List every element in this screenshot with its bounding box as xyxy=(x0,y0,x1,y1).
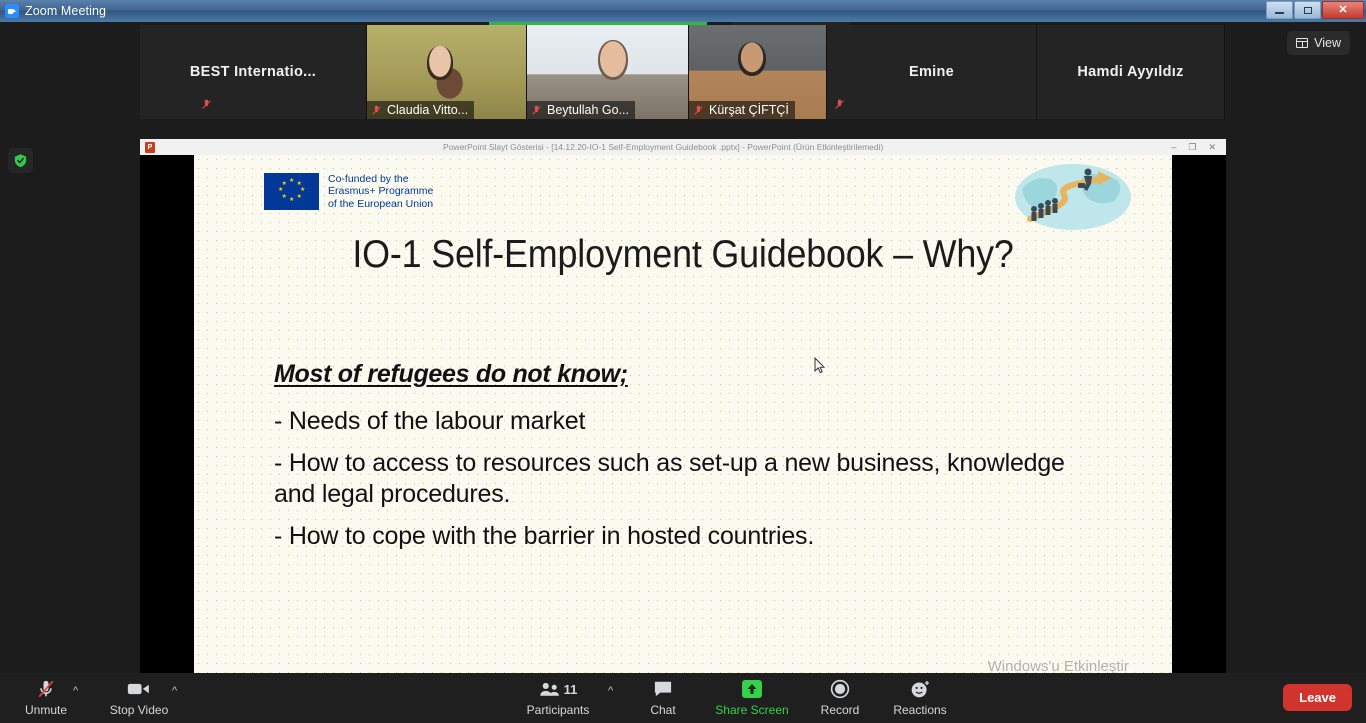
participant-tile[interactable]: BEST Internatio... xyxy=(140,25,367,119)
stop-video-label: Stop Video xyxy=(110,703,169,717)
shield-check-icon xyxy=(13,153,28,168)
ppt-close-button[interactable]: ✕ xyxy=(1208,142,1216,153)
slide-body-heading: Most of refugees do not know; xyxy=(274,360,1084,389)
window-controls: ✕ xyxy=(1266,1,1364,19)
window-titlebar: Zoom Meeting ✕ xyxy=(0,0,1366,22)
slide-body: Most of refugees do not know; - Needs of… xyxy=(274,360,1084,563)
slide-letterbox: ★ ★ ★ ★ ★ ★ ★ ★ Co-funded by the Erasmus… xyxy=(140,155,1226,695)
video-options-caret[interactable]: ^ xyxy=(172,685,177,697)
eu-text-line-2: Erasmus+ Programme xyxy=(328,185,433,197)
microphone-muted-icon xyxy=(35,678,57,700)
participant-tile[interactable]: Beytullah Go... xyxy=(527,25,689,119)
mute-icon xyxy=(530,104,543,117)
powerpoint-title: PowerPoint Slayt Gösterisi - [14.12.20-I… xyxy=(155,142,1171,152)
slide-title: IO-1 Self-Employment Guidebook – Why? xyxy=(233,233,1133,277)
restore-button[interactable] xyxy=(1294,1,1321,19)
eu-flag-icon: ★ ★ ★ ★ ★ ★ ★ ★ xyxy=(264,173,319,210)
participant-name-badge: Beytullah Go... xyxy=(527,101,635,119)
ppt-restore-button[interactable]: ❐ xyxy=(1188,142,1196,153)
slide-bullet: - How to access to resources such as set… xyxy=(274,448,1084,510)
mute-button[interactable]: Unmute xyxy=(6,678,86,717)
mute-icon xyxy=(833,98,846,116)
participant-tile[interactable]: Claudia Vitto... xyxy=(367,25,527,119)
slide-bullet: - Needs of the labour market xyxy=(274,406,1084,437)
participant-name: Beytullah Go... xyxy=(547,103,629,117)
eu-text-line-3: of the European Union xyxy=(328,198,433,210)
participant-name: Claudia Vitto... xyxy=(387,103,468,117)
participant-name: BEST Internatio... xyxy=(190,64,316,80)
chat-bubble-icon xyxy=(653,678,673,700)
globe-people-arrow-graphic xyxy=(1012,161,1134,233)
participant-tile[interactable]: Hamdi Ayyıldız xyxy=(1037,25,1225,119)
erasmus-eu-logo: ★ ★ ★ ★ ★ ★ ★ ★ Co-funded by the Erasmus… xyxy=(264,173,433,210)
leave-meeting-button[interactable]: Leave xyxy=(1283,684,1352,711)
grid-icon xyxy=(1296,38,1308,48)
share-screen-label: Share Screen xyxy=(715,703,788,717)
chat-label: Chat xyxy=(650,703,675,717)
close-icon: ✕ xyxy=(1338,5,1347,16)
powerpoint-window-controls: – ❐ ✕ xyxy=(1171,142,1216,153)
shared-screen-region: P PowerPoint Slayt Gösterisi - [14.12.20… xyxy=(140,139,1226,695)
view-button-label: View xyxy=(1314,36,1341,50)
record-label: Record xyxy=(821,703,860,717)
record-circle-icon xyxy=(830,678,850,700)
minimize-button[interactable] xyxy=(1266,1,1293,19)
encryption-shield-icon[interactable] xyxy=(8,148,33,173)
participant-name: Emine xyxy=(909,64,954,80)
slide-bullet: - How to cope with the barrier in hosted… xyxy=(274,521,1084,552)
share-arrow-up-icon xyxy=(741,678,763,700)
participant-filmstrip: ‹ BEST Internatio... Claudia Vitto... Be… xyxy=(140,25,1226,119)
powerpoint-slide: ★ ★ ★ ★ ★ ★ ★ ★ Co-funded by the Erasmus… xyxy=(194,155,1172,695)
participants-label: Participants xyxy=(527,703,590,717)
view-layout-button[interactable]: View xyxy=(1287,31,1350,55)
smiley-plus-icon xyxy=(910,678,931,700)
audio-options-caret[interactable]: ^ xyxy=(73,685,78,697)
participants-button[interactable]: 11 Participants xyxy=(518,678,598,717)
reactions-label: Reactions xyxy=(893,703,946,717)
ppt-minimize-button[interactable]: – xyxy=(1171,142,1176,153)
participants-count: 11 xyxy=(564,682,578,697)
meeting-toolbar: Unmute ^ Stop Video ^ 11 xyxy=(0,673,1366,723)
people-icon: 11 xyxy=(539,678,578,700)
mute-icon xyxy=(370,104,383,117)
leave-button-label: Leave xyxy=(1299,690,1336,705)
participant-name-badge: Kürşat ÇİFTÇİ xyxy=(689,101,795,119)
participant-name: Hamdi Ayyıldız xyxy=(1077,64,1183,80)
mute-button-label: Unmute xyxy=(25,703,67,717)
window-title: Zoom Meeting xyxy=(25,4,106,18)
camera-icon xyxy=(127,678,151,700)
close-button[interactable]: ✕ xyxy=(1322,1,1364,19)
eu-logo-text: Co-funded by the Erasmus+ Programme of t… xyxy=(328,173,433,210)
stop-video-button[interactable]: Stop Video xyxy=(99,678,179,717)
participant-tile[interactable]: Kürşat ÇİFTÇİ xyxy=(689,25,827,119)
participant-name: Kürşat ÇİFTÇİ xyxy=(709,103,789,117)
powerpoint-icon: P xyxy=(145,142,155,153)
powerpoint-titlebar: P PowerPoint Slayt Gösterisi - [14.12.20… xyxy=(140,139,1226,155)
reactions-button[interactable]: Reactions xyxy=(880,678,960,717)
zoom-meeting-body: You are viewing ali kıraç's screen View … xyxy=(0,22,1366,723)
record-button[interactable]: Record xyxy=(800,678,880,717)
eu-text-line-1: Co-funded by the xyxy=(328,173,433,185)
mute-icon xyxy=(692,104,705,117)
mute-icon xyxy=(200,98,213,116)
participant-name-badge: Claudia Vitto... xyxy=(367,101,474,119)
participant-tile[interactable]: Emine xyxy=(827,25,1037,119)
share-screen-button[interactable]: Share Screen xyxy=(712,678,792,717)
zoom-camera-icon xyxy=(5,4,19,18)
participants-caret[interactable]: ^ xyxy=(608,685,613,697)
mouse-cursor-icon xyxy=(814,357,825,374)
chat-button[interactable]: Chat xyxy=(623,678,703,717)
